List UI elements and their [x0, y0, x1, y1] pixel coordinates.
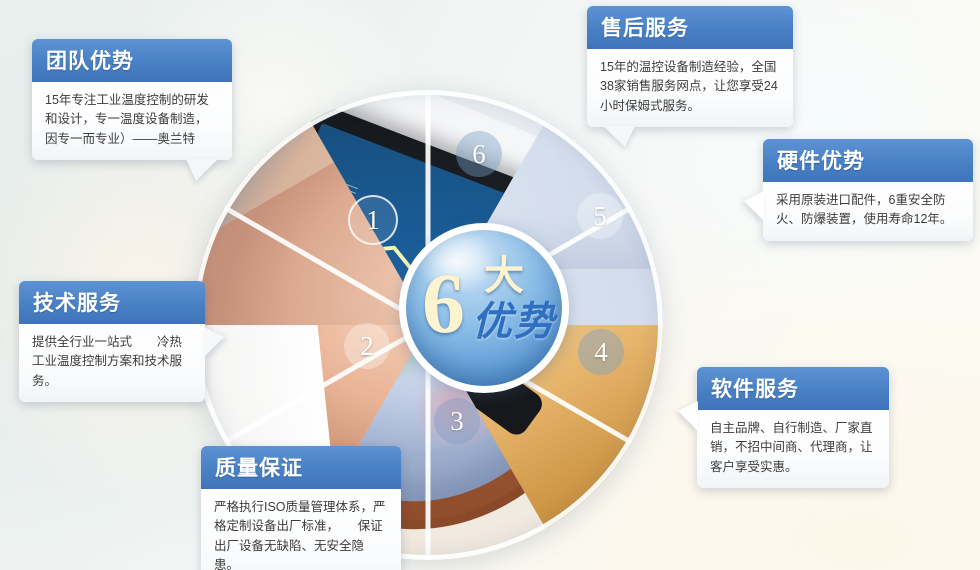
card-software-title: 软件服务 — [697, 367, 889, 410]
marker-2[interactable]: 2 — [344, 323, 390, 369]
marker-4[interactable]: 4 — [578, 329, 624, 375]
card-after-sales-title: 售后服务 — [587, 6, 793, 49]
card-hardware-tail — [744, 191, 764, 221]
card-software-tail — [678, 401, 698, 431]
card-technical-title: 技术服务 — [19, 281, 205, 324]
card-technical-body: 提供全行业一站式 冷热工业温度控制方案和技术服务。 — [19, 324, 205, 402]
card-technical-tail — [204, 327, 224, 357]
infographic-canvas: 1 2 3 4 5 6 6 大 优势 团队优势 15年专注工业温度控制的研发和设… — [0, 0, 980, 570]
marker-6[interactable]: 6 — [456, 131, 502, 177]
card-software-service[interactable]: 软件服务 自主品牌、自行制造、厂家直销，不招中间商、代理商，让客户享受实惠。 — [697, 367, 889, 488]
card-technical-service[interactable]: 技术服务 提供全行业一站式 冷热工业温度控制方案和技术服务。 — [19, 281, 205, 402]
card-team-tail — [186, 159, 218, 181]
card-after-sales-body: 15年的温控设备制造经验，全国38家销售服务网点，让您享受24小时保姆式服务。 — [587, 49, 793, 127]
card-after-sales-tail — [603, 126, 635, 147]
card-software-body: 自主品牌、自行制造、厂家直销，不招中间商、代理商，让客户享受实惠。 — [697, 410, 889, 488]
card-team-title: 团队优势 — [32, 39, 232, 82]
card-hardware-advantage[interactable]: 硬件优势 采用原装进口配件，6重安全防火、防爆装置，使用寿命12年。 — [763, 139, 973, 241]
card-quality-body: 严格执行ISO质量管理体系，严格定制设备出厂标准， 保证出厂设备无缺陷、无安全隐… — [201, 489, 401, 570]
card-team-body: 15年专注工业温度控制的研发和设计，专一温度设备制造，因专一而专业）——奥兰特 — [32, 82, 232, 160]
card-team-advantage[interactable]: 团队优势 15年专注工业温度控制的研发和设计，专一温度设备制造，因专一而专业）—… — [32, 39, 232, 160]
card-hardware-title: 硬件优势 — [763, 139, 973, 182]
center-number: 6 — [422, 260, 465, 346]
marker-1[interactable]: 1 — [348, 195, 398, 245]
card-quality-title: 质量保证 — [201, 446, 401, 489]
center-badge-sphere: 6 大 优势 — [406, 230, 562, 386]
card-hardware-body: 采用原装进口配件，6重安全防火、防爆装置，使用寿命12年。 — [763, 182, 973, 241]
marker-5[interactable]: 5 — [577, 193, 623, 239]
center-badge: 6 大 优势 — [399, 223, 569, 393]
card-quality-assurance[interactable]: 质量保证 严格执行ISO质量管理体系，严格定制设备出厂标准， 保证出厂设备无缺陷… — [201, 446, 401, 570]
marker-3[interactable]: 3 — [434, 398, 480, 444]
center-big-word: 大 — [484, 256, 524, 296]
center-sub-word: 优势 — [472, 302, 556, 342]
card-after-sales[interactable]: 售后服务 15年的温控设备制造经验，全国38家销售服务网点，让您享受24小时保姆… — [587, 6, 793, 127]
